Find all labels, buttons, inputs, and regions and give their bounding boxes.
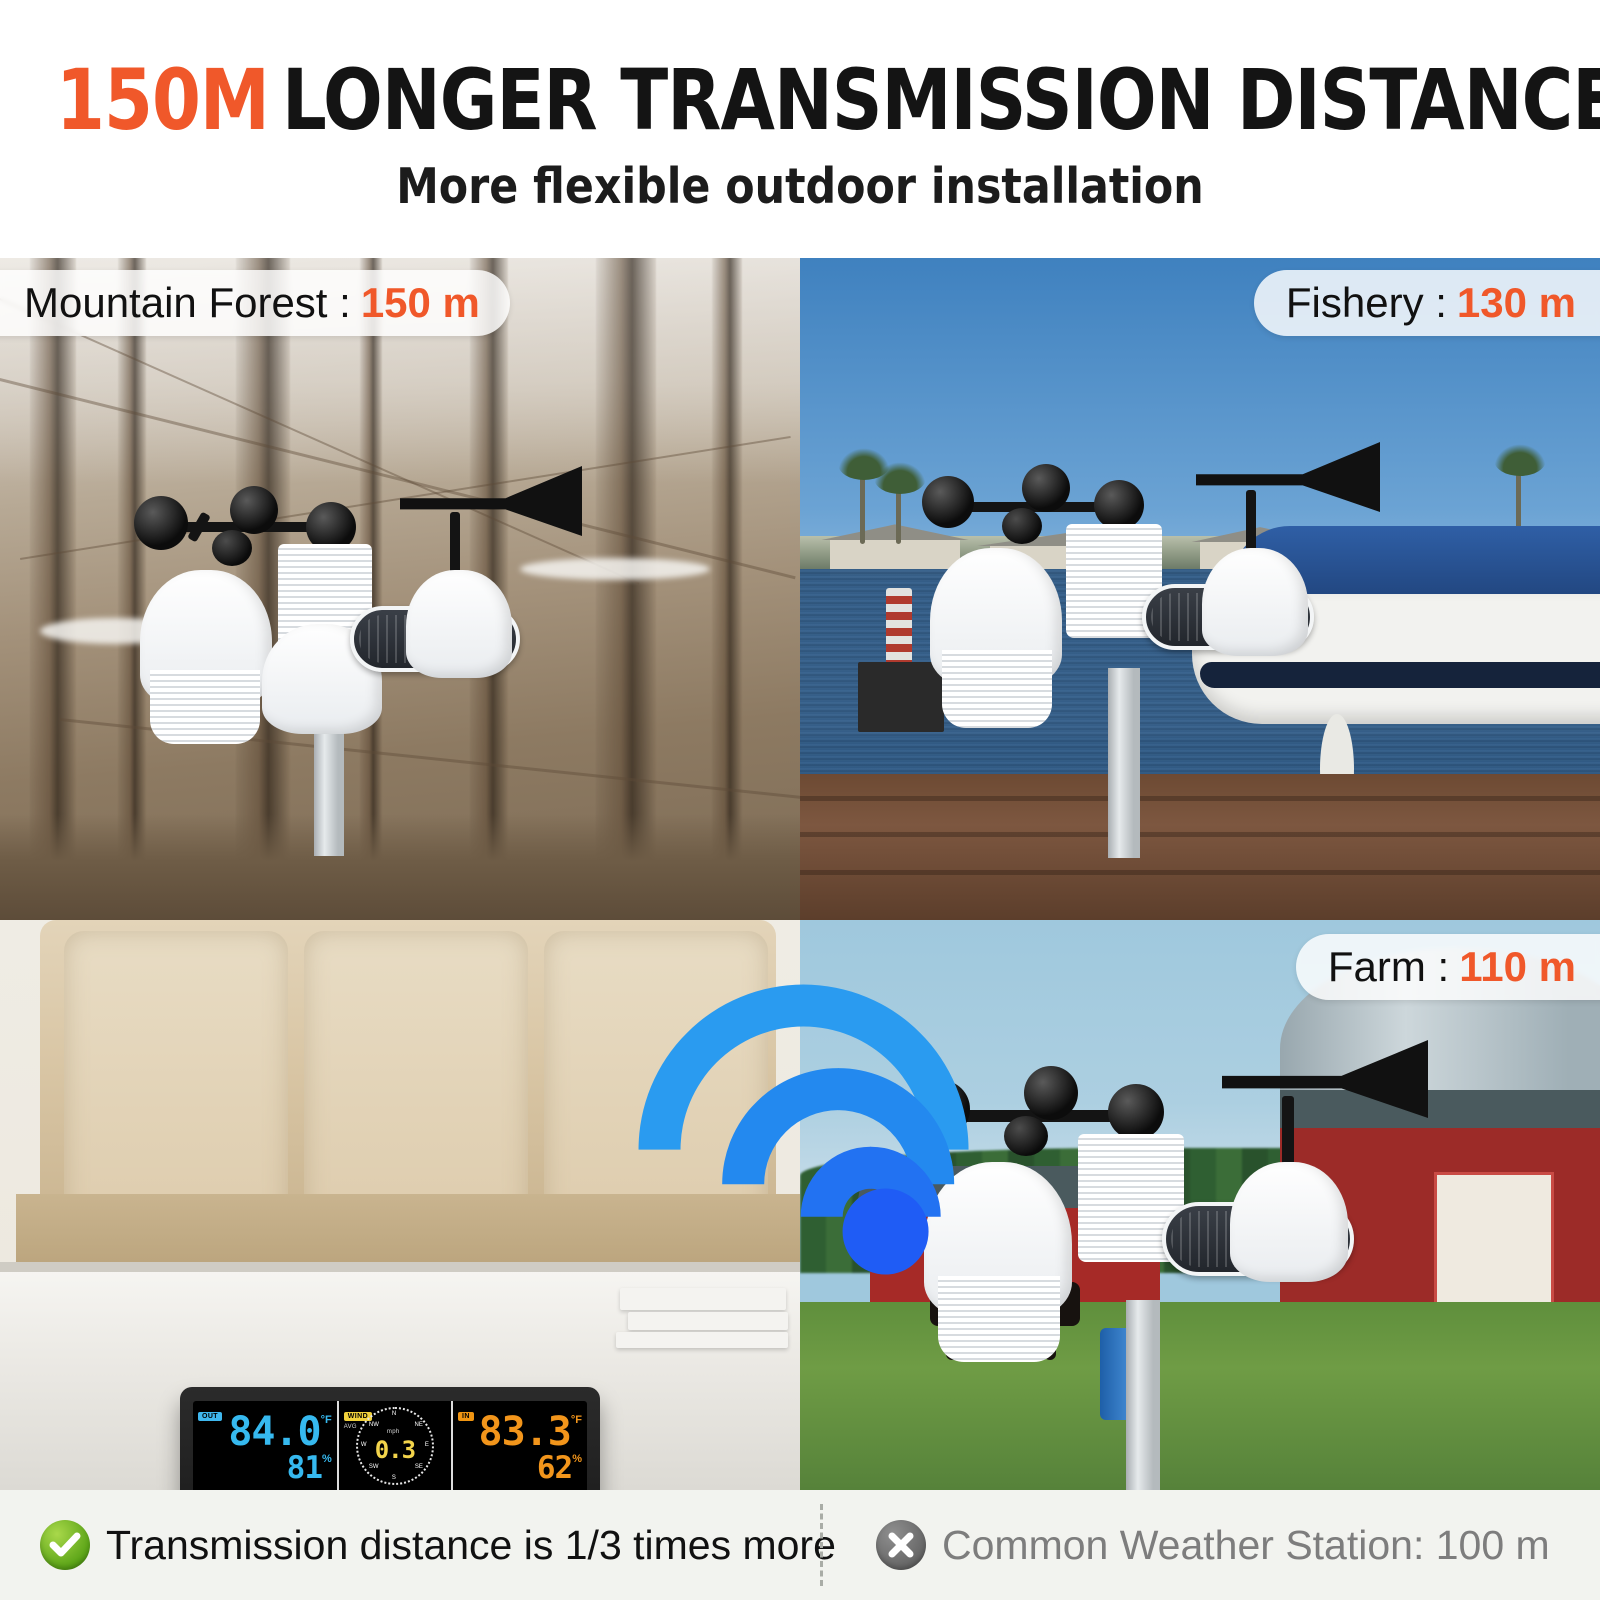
out-tag: OUT — [198, 1412, 222, 1421]
in-tag: IN — [458, 1412, 474, 1421]
radiation-shield — [150, 670, 260, 744]
sensor-housing — [1230, 1162, 1348, 1282]
in-humidity-unit: % — [572, 1453, 582, 1465]
pill-label: Fishery : — [1286, 282, 1447, 324]
dock-plank — [800, 870, 1600, 875]
label-farm: Farm : 110 m — [1296, 934, 1600, 1000]
pill-value: 110 m — [1459, 946, 1576, 988]
anemometer-cup — [922, 476, 974, 528]
label-mountain-forest: Mountain Forest : 150 m — [0, 270, 510, 336]
check-circle-icon — [40, 1520, 90, 1570]
photo-grid: Mountain Forest : 150 m — [0, 258, 1600, 1490]
wind-speed-value: 0.3 — [375, 1438, 415, 1462]
sensor-mounting-pole — [1126, 1300, 1160, 1490]
in-temp-unit: °F — [571, 1414, 582, 1426]
pill-value: 130 m — [1457, 282, 1576, 324]
radiation-shield — [938, 1276, 1060, 1362]
product-infographic: 150MLONGER TRANSMISSION DISTANCE More fl… — [0, 0, 1600, 1600]
x-circle-icon — [876, 1520, 926, 1570]
out-temp-unit: °F — [321, 1414, 332, 1426]
anemometer-cup — [1108, 1084, 1164, 1140]
anemometer-hub — [212, 530, 252, 566]
panel-mountain-forest: Mountain Forest : 150 m — [0, 258, 800, 920]
footer-negative-item: Common Weather Station: 100 m — [820, 1490, 1600, 1600]
footer-negative-text: Common Weather Station: 100 m — [942, 1522, 1550, 1569]
wind-vane — [400, 466, 582, 536]
sensor-housing — [1202, 548, 1308, 656]
weather-sensor-device — [910, 448, 1350, 848]
page-subheadline: More flexible outdoor installation — [24, 158, 1576, 216]
lcd-top-row: OUT 84.0 °F 81 % WIND — [193, 1401, 587, 1490]
console-lcd-screen: OUT 84.0 °F 81 % WIND — [193, 1401, 587, 1490]
palm-crown — [1494, 444, 1546, 476]
barn-door — [1434, 1172, 1554, 1322]
anemometer-cup — [1024, 1066, 1078, 1120]
anemometer-hub — [1002, 508, 1042, 544]
wind-unit: mph — [387, 1429, 400, 1435]
wind-compass-dial: N S W E NW NE SW SE mph 0.3 — [356, 1407, 434, 1485]
panel-fishery: Fishery : 130 m — [800, 258, 1600, 920]
footer-positive-item: Transmission distance is 1/3 times more — [0, 1490, 820, 1600]
out-humidity-unit: % — [322, 1453, 332, 1465]
label-fishery: Fishery : 130 m — [1254, 270, 1600, 336]
weather-sensor-device — [120, 474, 560, 854]
lcd-outdoor-section: OUT 84.0 °F 81 % — [193, 1401, 339, 1490]
wind-vane — [1222, 1040, 1428, 1118]
anemometer-cup — [230, 486, 278, 534]
anemometer-cup — [1022, 464, 1070, 512]
pill-label: Mountain Forest : — [24, 282, 351, 324]
headline-rest: LONGER TRANSMISSION DISTANCE — [282, 51, 1600, 149]
anemometer-cup — [1094, 480, 1144, 530]
pill-label: Farm : — [1328, 946, 1449, 988]
footer-divider — [820, 1504, 823, 1586]
sensor-housing — [406, 570, 512, 678]
weather-station-console[interactable]: OUT 84.0 °F 81 % WIND — [180, 1387, 600, 1490]
header-band: 150MLONGER TRANSMISSION DISTANCE More fl… — [0, 0, 1600, 258]
page-headline: 150MLONGER TRANSMISSION DISTANCE — [56, 52, 1544, 148]
lcd-indoor-section: IN 83.3 °F 62 % — [453, 1401, 587, 1490]
anemometer-cup — [134, 496, 188, 550]
in-temp-value: 83.3 — [479, 1412, 571, 1452]
footer-positive-text: Transmission distance is 1/3 times more — [106, 1522, 836, 1569]
out-temp-value: 84.0 — [228, 1412, 320, 1452]
lcd-wind-section: WIND AVG N S W E NW NE SW SE — [339, 1401, 453, 1490]
radiation-shield — [942, 650, 1052, 728]
sensor-mounting-pole — [1108, 668, 1140, 858]
pill-value: 150 m — [361, 282, 480, 324]
in-humidity-value: 62 — [537, 1453, 572, 1484]
out-humidity-value: 81 — [287, 1453, 322, 1484]
lighthouse-buoy — [886, 588, 912, 666]
headline-accent: 150M — [56, 51, 269, 149]
comparison-footer: Transmission distance is 1/3 times more … — [0, 1490, 1600, 1600]
